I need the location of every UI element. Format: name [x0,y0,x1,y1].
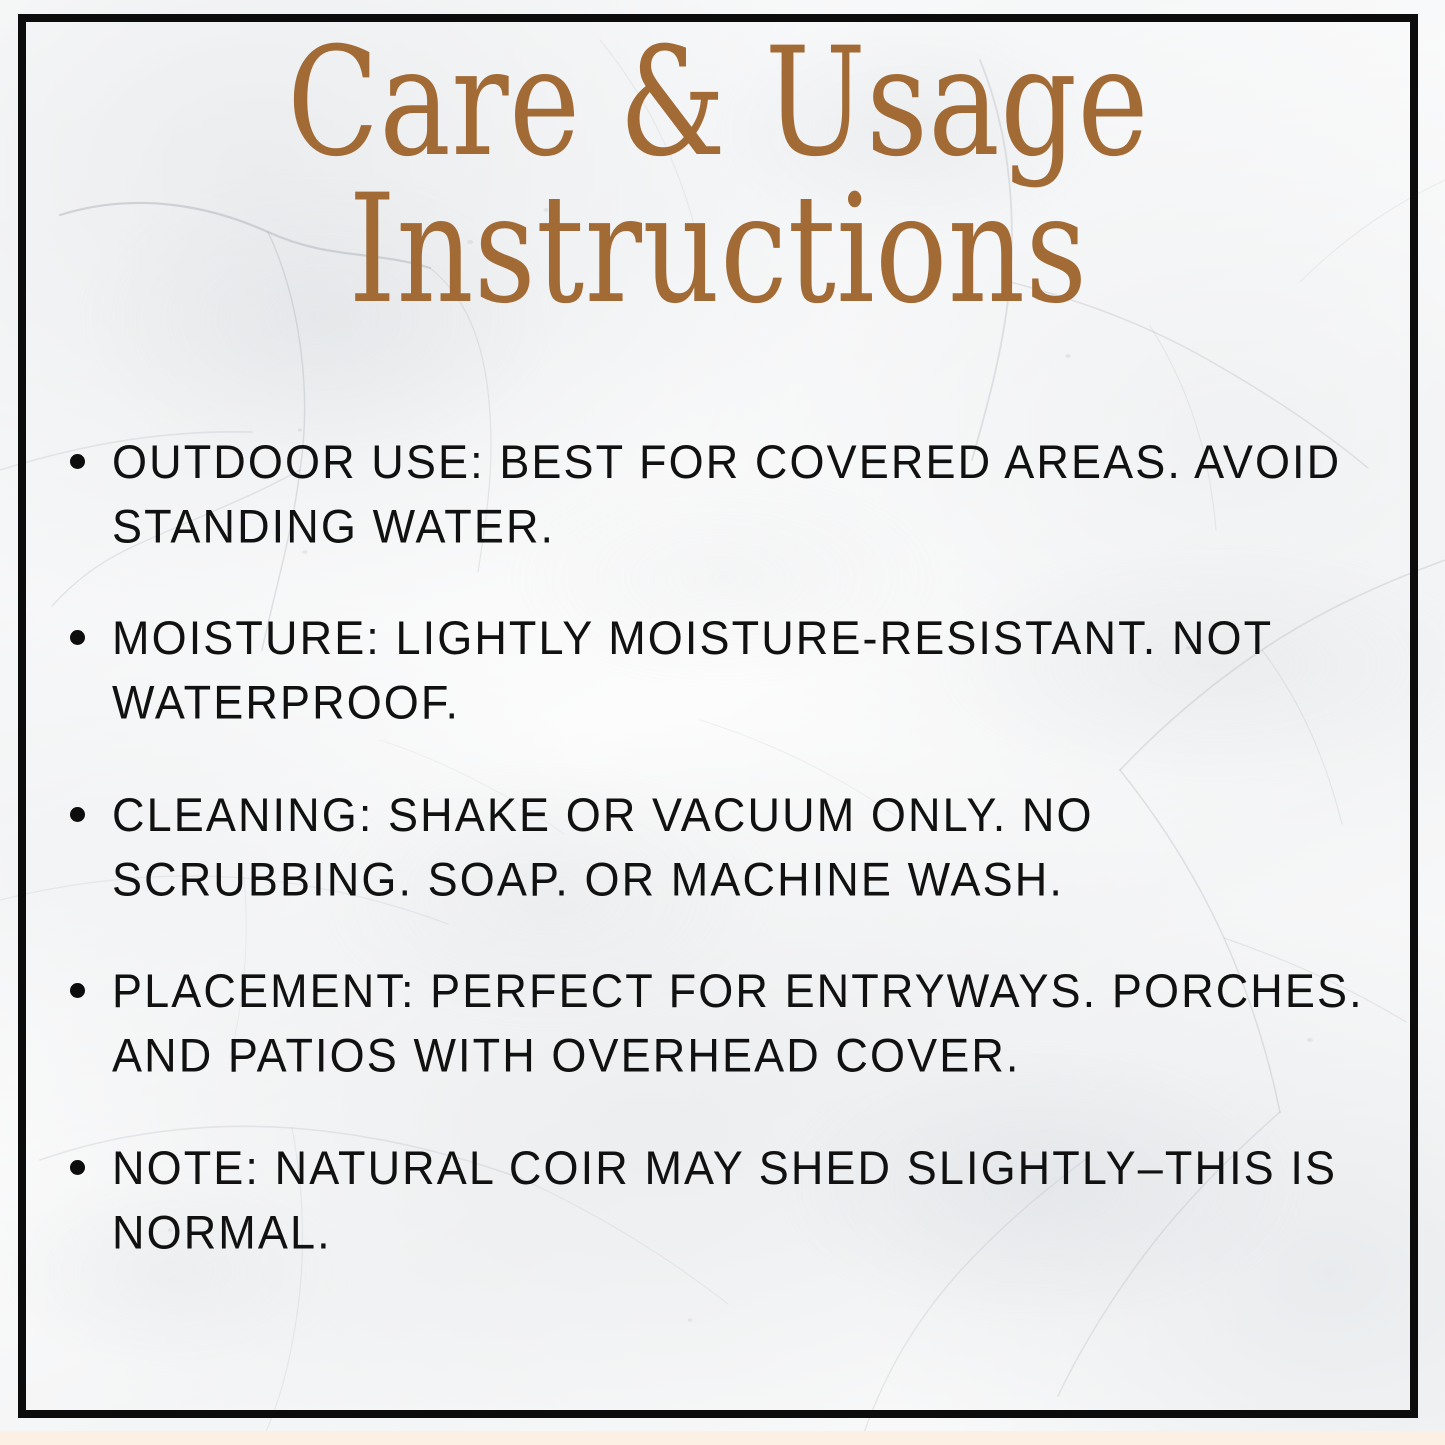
bottom-accent-strip [0,1431,1445,1445]
title-line-2: Instructions [158,177,1278,324]
page-title: Care & Usage Instructions [158,30,1278,324]
list-item: NOTE: NATURAL COIR MAY SHED SLIGHTLY–THI… [70,1135,1372,1257]
list-item: PLACEMENT: PERFECT FOR ENTRYWAYS. PORCHE… [70,958,1372,1080]
bullet-dot-icon [70,807,85,822]
list-item: CLEANING: SHAKE OR VACUUM ONLY. NO SCRUB… [70,782,1372,904]
bullet-dot-icon [70,630,85,645]
instruction-text-moisture: MOISTURE: LIGHTLY MOISTURE-RESISTANT. NO… [112,605,1372,735]
title-line-1: Care & Usage [158,30,1278,177]
bullet-dot-icon [70,454,85,469]
bullet-dot-icon [70,1160,85,1175]
instruction-text-placement: PLACEMENT: PERFECT FOR ENTRYWAYS. PORCHE… [112,958,1372,1088]
list-item: OUTDOOR USE: BEST FOR COVERED AREAS. AVO… [70,429,1372,551]
instruction-text-note: NOTE: NATURAL COIR MAY SHED SLIGHTLY–THI… [112,1135,1372,1265]
instructions-list: OUTDOOR USE: BEST FOR COVERED AREAS. AVO… [70,429,1372,1257]
instruction-text-cleaning: CLEANING: SHAKE OR VACUUM ONLY. NO SCRUB… [112,782,1372,912]
bullet-dot-icon [70,983,85,998]
instruction-text-outdoor-use: OUTDOOR USE: BEST FOR COVERED AREAS. AVO… [112,429,1372,559]
care-usage-poster: Care & Usage Instructions OUTDOOR USE: B… [0,0,1445,1445]
poster-content: Care & Usage Instructions OUTDOOR USE: B… [18,14,1418,1418]
list-item: MOISTURE: LIGHTLY MOISTURE-RESISTANT. NO… [70,605,1372,727]
